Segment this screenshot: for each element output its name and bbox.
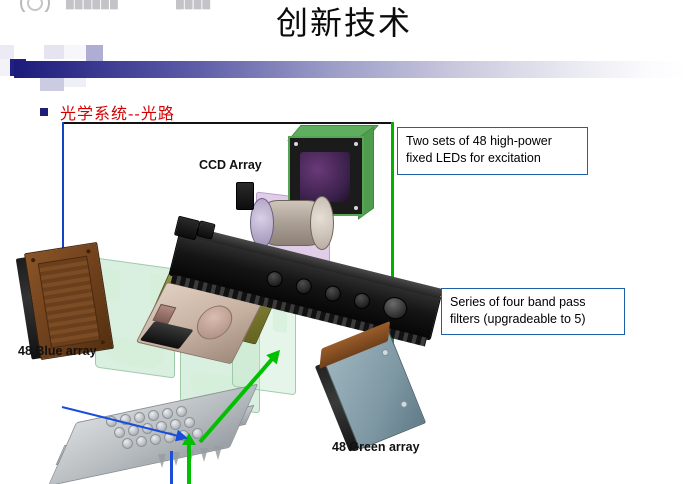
green-led-array-icon [322,330,426,450]
callout-filters-line1: Series of four band pass [450,294,616,311]
callout-leds[interactable]: Two sets of 48 high-power fixed LEDs for… [397,127,588,175]
square-bullet-icon [40,108,48,116]
lens-barrel-icon [256,196,330,248]
slide-title: 创新技术 [0,3,688,43]
label-blue-array: 48 Blue array [18,344,97,358]
excitation-beam-blue-icon [170,451,173,484]
slide-canvas: ██████ ████ 创新技术 光学系统--光路 [0,0,688,484]
callout-filters[interactable]: Series of four band pass filters (upgrad… [441,288,625,335]
excitation-beam-green-icon [187,444,191,484]
callout-leds-line2: fixed LEDs for excitation [406,150,579,167]
rail-fixture-c-icon [236,182,254,210]
label-green-array: 48 Green array [332,440,420,454]
sample-plate-96-well-icon [62,396,254,474]
callout-leds-line1: Two sets of 48 high-power [406,133,579,150]
header-gradient-rule [14,61,688,78]
label-ccd-array: CCD Array [199,158,262,172]
callout-filters-line2: filters (upgradeable to 5) [450,311,616,328]
